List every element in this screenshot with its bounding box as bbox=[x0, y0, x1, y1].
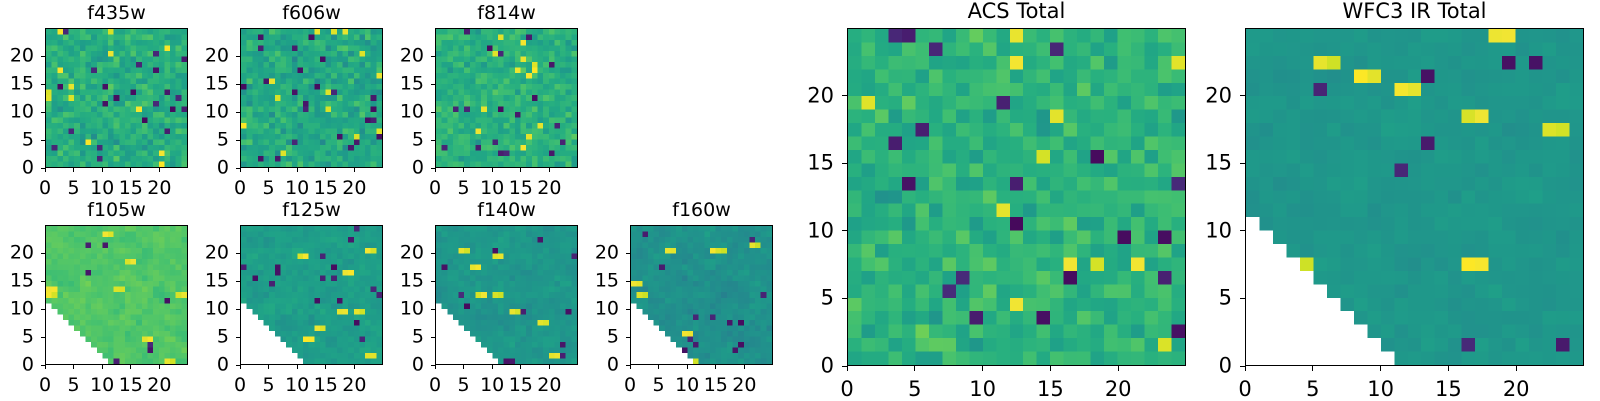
xtick-f606w-20 bbox=[354, 168, 355, 172]
xtick-label-f140w-20: 20 bbox=[537, 376, 561, 395]
xtick-label-f814w-5: 5 bbox=[458, 179, 470, 198]
xtick-f160w-20 bbox=[744, 365, 745, 369]
ytick-f125w-10 bbox=[236, 309, 240, 310]
ytick-f606w-0 bbox=[236, 168, 240, 169]
ytick-label-f105w-15: 15 bbox=[10, 272, 34, 291]
ytick-label-f125w-5: 5 bbox=[217, 328, 229, 347]
ytick-label-acs-total-15: 15 bbox=[807, 153, 834, 174]
xtick-f140w-20 bbox=[549, 365, 550, 369]
xtick-f105w-5 bbox=[73, 365, 74, 369]
ytick-label-f435w-20: 20 bbox=[10, 47, 34, 66]
ytick-label-f606w-15: 15 bbox=[205, 75, 229, 94]
ytick-f606w-10 bbox=[236, 112, 240, 113]
panel-title-wfc3-ir-total: WFC3 IR Total bbox=[1245, 1, 1584, 22]
xtick-f125w-5 bbox=[268, 365, 269, 369]
ytick-label-wfc3-ir-total-5: 5 bbox=[1219, 288, 1232, 309]
ytick-f140w-20 bbox=[431, 253, 435, 254]
heatmap-f140w bbox=[435, 225, 578, 365]
ytick-f435w-5 bbox=[41, 140, 45, 141]
ytick-f160w-15 bbox=[626, 281, 630, 282]
ytick-wfc3-ir-total-10 bbox=[1240, 230, 1245, 231]
ytick-label-wfc3-ir-total-15: 15 bbox=[1205, 153, 1232, 174]
heatmap-wfc3-ir-total bbox=[1245, 28, 1584, 366]
ytick-f814w-10 bbox=[431, 112, 435, 113]
panel-f140w: f140w0510152005101520 bbox=[435, 225, 578, 365]
xtick-label-f435w-20: 20 bbox=[147, 179, 171, 198]
heatmap-f105w bbox=[45, 225, 188, 365]
ytick-label-f125w-20: 20 bbox=[205, 244, 229, 263]
xtick-label-f814w-10: 10 bbox=[480, 179, 504, 198]
xtick-f606w-15 bbox=[325, 168, 326, 172]
figure-canvas: f435w0510152005101520f606w05101520051015… bbox=[0, 0, 1600, 400]
ytick-label-f125w-0: 0 bbox=[217, 356, 229, 375]
xtick-label-f606w-15: 15 bbox=[314, 179, 338, 198]
ytick-label-f160w-15: 15 bbox=[595, 272, 619, 291]
panel-title-f606w: f606w bbox=[240, 4, 383, 23]
ytick-label-wfc3-ir-total-10: 10 bbox=[1205, 220, 1232, 241]
ytick-label-f606w-20: 20 bbox=[205, 47, 229, 66]
heatmap-canvas-wfc3-ir-total bbox=[1246, 29, 1583, 365]
ytick-f160w-5 bbox=[626, 337, 630, 338]
ytick-label-f435w-10: 10 bbox=[10, 103, 34, 122]
xtick-label-f435w-0: 0 bbox=[39, 179, 51, 198]
ytick-label-f160w-20: 20 bbox=[595, 244, 619, 263]
xtick-f140w-5 bbox=[463, 365, 464, 369]
heatmap-canvas-f125w bbox=[241, 226, 382, 364]
ytick-label-acs-total-20: 20 bbox=[807, 85, 834, 106]
xtick-wfc3-ir-total-0 bbox=[1245, 366, 1246, 371]
panel-title-f814w: f814w bbox=[435, 4, 578, 23]
xtick-label-f435w-15: 15 bbox=[119, 179, 143, 198]
xtick-label-f435w-10: 10 bbox=[90, 179, 114, 198]
panel-f435w: f435w0510152005101520 bbox=[45, 28, 188, 168]
ytick-f125w-15 bbox=[236, 281, 240, 282]
ytick-label-f160w-0: 0 bbox=[607, 356, 619, 375]
xtick-f814w-10 bbox=[492, 168, 493, 172]
xtick-label-f125w-0: 0 bbox=[234, 376, 246, 395]
ytick-f606w-15 bbox=[236, 84, 240, 85]
ytick-label-f125w-15: 15 bbox=[205, 272, 229, 291]
ytick-f606w-20 bbox=[236, 56, 240, 57]
panel-f606w: f606w0510152005101520 bbox=[240, 28, 383, 168]
xtick-label-f105w-0: 0 bbox=[39, 376, 51, 395]
panel-f105w: f105w0510152005101520 bbox=[45, 225, 188, 365]
ytick-label-f105w-0: 0 bbox=[22, 356, 34, 375]
xtick-label-f105w-10: 10 bbox=[90, 376, 114, 395]
xtick-f435w-15 bbox=[130, 168, 131, 172]
ytick-f814w-15 bbox=[431, 84, 435, 85]
ytick-label-f435w-5: 5 bbox=[22, 131, 34, 150]
ytick-f160w-20 bbox=[626, 253, 630, 254]
ytick-label-f435w-15: 15 bbox=[10, 75, 34, 94]
xtick-label-wfc3-ir-total-5: 5 bbox=[1306, 379, 1319, 400]
xtick-wfc3-ir-total-5 bbox=[1312, 366, 1313, 371]
heatmap-f125w bbox=[240, 225, 383, 365]
xtick-label-acs-total-20: 20 bbox=[1105, 379, 1132, 400]
panel-title-f140w: f140w bbox=[435, 201, 578, 220]
ytick-label-f105w-20: 20 bbox=[10, 244, 34, 263]
ytick-label-f105w-5: 5 bbox=[22, 328, 34, 347]
xtick-f435w-20 bbox=[159, 168, 160, 172]
xtick-label-f435w-5: 5 bbox=[68, 179, 80, 198]
ytick-label-f105w-10: 10 bbox=[10, 300, 34, 319]
ytick-label-f606w-0: 0 bbox=[217, 159, 229, 178]
ytick-f140w-5 bbox=[431, 337, 435, 338]
xtick-f814w-5 bbox=[463, 168, 464, 172]
ytick-acs-total-15 bbox=[842, 163, 847, 164]
xtick-label-f606w-0: 0 bbox=[234, 179, 246, 198]
ytick-wfc3-ir-total-20 bbox=[1240, 95, 1245, 96]
ytick-acs-total-0 bbox=[842, 366, 847, 367]
xtick-acs-total-10 bbox=[982, 366, 983, 371]
xtick-label-f105w-15: 15 bbox=[119, 376, 143, 395]
xtick-label-f125w-10: 10 bbox=[285, 376, 309, 395]
xtick-f435w-10 bbox=[102, 168, 103, 172]
xtick-f606w-10 bbox=[297, 168, 298, 172]
panel-f814w: f814w0510152005101520 bbox=[435, 28, 578, 168]
xtick-label-f160w-5: 5 bbox=[653, 376, 665, 395]
panel-acs-total: ACS Total0510152005101520 bbox=[847, 28, 1186, 366]
xtick-label-f125w-5: 5 bbox=[263, 376, 275, 395]
ytick-wfc3-ir-total-0 bbox=[1240, 366, 1245, 367]
ytick-label-f160w-10: 10 bbox=[595, 300, 619, 319]
panel-title-acs-total: ACS Total bbox=[847, 1, 1186, 22]
ytick-label-f606w-10: 10 bbox=[205, 103, 229, 122]
xtick-label-f125w-15: 15 bbox=[314, 376, 338, 395]
ytick-f814w-0 bbox=[431, 168, 435, 169]
xtick-label-f140w-5: 5 bbox=[458, 376, 470, 395]
panel-wfc3-ir-total: WFC3 IR Total0510152005101520 bbox=[1245, 28, 1584, 366]
ytick-label-f140w-5: 5 bbox=[412, 328, 424, 347]
xtick-label-f105w-20: 20 bbox=[147, 376, 171, 395]
ytick-f125w-20 bbox=[236, 253, 240, 254]
heatmap-canvas-f160w bbox=[631, 226, 772, 364]
ytick-label-acs-total-0: 0 bbox=[821, 356, 834, 377]
xtick-f125w-10 bbox=[297, 365, 298, 369]
xtick-f814w-20 bbox=[549, 168, 550, 172]
ytick-f160w-0 bbox=[626, 365, 630, 366]
ytick-label-f814w-20: 20 bbox=[400, 47, 424, 66]
xtick-acs-total-15 bbox=[1050, 366, 1051, 371]
ytick-label-f140w-10: 10 bbox=[400, 300, 424, 319]
xtick-f160w-5 bbox=[658, 365, 659, 369]
ytick-wfc3-ir-total-15 bbox=[1240, 163, 1245, 164]
ytick-f105w-20 bbox=[41, 253, 45, 254]
xtick-label-acs-total-5: 5 bbox=[908, 379, 921, 400]
ytick-label-f814w-5: 5 bbox=[412, 131, 424, 150]
xtick-acs-total-0 bbox=[847, 366, 848, 371]
ytick-acs-total-5 bbox=[842, 298, 847, 299]
heatmap-canvas-acs-total bbox=[848, 29, 1185, 365]
panel-title-f125w: f125w bbox=[240, 201, 383, 220]
xtick-label-wfc3-ir-total-15: 15 bbox=[1435, 379, 1462, 400]
xtick-f140w-15 bbox=[520, 365, 521, 369]
panel-title-f160w: f160w bbox=[630, 201, 773, 220]
ytick-label-wfc3-ir-total-0: 0 bbox=[1219, 356, 1232, 377]
ytick-label-f140w-0: 0 bbox=[412, 356, 424, 375]
panel-title-f105w: f105w bbox=[45, 201, 188, 220]
xtick-label-f140w-15: 15 bbox=[509, 376, 533, 395]
ytick-label-f814w-0: 0 bbox=[412, 159, 424, 178]
ytick-label-f606w-5: 5 bbox=[217, 131, 229, 150]
ytick-f606w-5 bbox=[236, 140, 240, 141]
xtick-f814w-15 bbox=[520, 168, 521, 172]
xtick-label-f606w-20: 20 bbox=[342, 179, 366, 198]
xtick-label-acs-total-10: 10 bbox=[969, 379, 996, 400]
xtick-wfc3-ir-total-15 bbox=[1448, 366, 1449, 371]
ytick-label-f160w-5: 5 bbox=[607, 328, 619, 347]
xtick-label-f140w-0: 0 bbox=[429, 376, 441, 395]
xtick-f125w-20 bbox=[354, 365, 355, 369]
ytick-f160w-10 bbox=[626, 309, 630, 310]
xtick-label-f814w-0: 0 bbox=[429, 179, 441, 198]
ytick-wfc3-ir-total-5 bbox=[1240, 298, 1245, 299]
ytick-label-acs-total-5: 5 bbox=[821, 288, 834, 309]
heatmap-f435w bbox=[45, 28, 188, 168]
heatmap-canvas-f606w bbox=[241, 29, 382, 167]
xtick-label-wfc3-ir-total-10: 10 bbox=[1367, 379, 1394, 400]
heatmap-canvas-f814w bbox=[436, 29, 577, 167]
xtick-f160w-15 bbox=[715, 365, 716, 369]
xtick-label-f606w-10: 10 bbox=[285, 179, 309, 198]
ytick-acs-total-10 bbox=[842, 230, 847, 231]
xtick-label-f814w-20: 20 bbox=[537, 179, 561, 198]
ytick-label-f125w-10: 10 bbox=[205, 300, 229, 319]
xtick-wfc3-ir-total-20 bbox=[1516, 366, 1517, 371]
xtick-f160w-10 bbox=[687, 365, 688, 369]
ytick-f140w-10 bbox=[431, 309, 435, 310]
heatmap-f814w bbox=[435, 28, 578, 168]
ytick-label-f435w-0: 0 bbox=[22, 159, 34, 178]
xtick-label-f140w-10: 10 bbox=[480, 376, 504, 395]
ytick-f435w-20 bbox=[41, 56, 45, 57]
xtick-label-f125w-20: 20 bbox=[342, 376, 366, 395]
xtick-label-wfc3-ir-total-20: 20 bbox=[1503, 379, 1530, 400]
xtick-f125w-15 bbox=[325, 365, 326, 369]
ytick-f435w-0 bbox=[41, 168, 45, 169]
ytick-f105w-5 bbox=[41, 337, 45, 338]
ytick-label-f140w-15: 15 bbox=[400, 272, 424, 291]
ytick-label-f140w-20: 20 bbox=[400, 244, 424, 263]
ytick-acs-total-20 bbox=[842, 95, 847, 96]
xtick-label-acs-total-15: 15 bbox=[1037, 379, 1064, 400]
heatmap-canvas-f140w bbox=[436, 226, 577, 364]
xtick-label-wfc3-ir-total-0: 0 bbox=[1238, 379, 1251, 400]
panel-f125w: f125w0510152005101520 bbox=[240, 225, 383, 365]
ytick-f125w-0 bbox=[236, 365, 240, 366]
xtick-label-f160w-20: 20 bbox=[732, 376, 756, 395]
xtick-f606w-5 bbox=[268, 168, 269, 172]
ytick-f105w-0 bbox=[41, 365, 45, 366]
panel-title-f435w: f435w bbox=[45, 4, 188, 23]
xtick-label-f814w-15: 15 bbox=[509, 179, 533, 198]
panel-f160w: f160w0510152005101520 bbox=[630, 225, 773, 365]
ytick-f435w-15 bbox=[41, 84, 45, 85]
xtick-label-f160w-10: 10 bbox=[675, 376, 699, 395]
ytick-f105w-15 bbox=[41, 281, 45, 282]
xtick-label-f160w-15: 15 bbox=[704, 376, 728, 395]
ytick-f435w-10 bbox=[41, 112, 45, 113]
xtick-acs-total-20 bbox=[1118, 366, 1119, 371]
xtick-f105w-20 bbox=[159, 365, 160, 369]
ytick-f140w-15 bbox=[431, 281, 435, 282]
ytick-f140w-0 bbox=[431, 365, 435, 366]
xtick-label-acs-total-0: 0 bbox=[840, 379, 853, 400]
xtick-acs-total-5 bbox=[914, 366, 915, 371]
ytick-f105w-10 bbox=[41, 309, 45, 310]
heatmap-f606w bbox=[240, 28, 383, 168]
xtick-label-f606w-5: 5 bbox=[263, 179, 275, 198]
xtick-f435w-5 bbox=[73, 168, 74, 172]
xtick-label-f160w-0: 0 bbox=[624, 376, 636, 395]
heatmap-canvas-f105w bbox=[46, 226, 187, 364]
ytick-label-acs-total-10: 10 bbox=[807, 220, 834, 241]
ytick-label-f814w-10: 10 bbox=[400, 103, 424, 122]
xtick-wfc3-ir-total-10 bbox=[1380, 366, 1381, 371]
ytick-label-wfc3-ir-total-20: 20 bbox=[1205, 85, 1232, 106]
heatmap-acs-total bbox=[847, 28, 1186, 366]
ytick-f814w-20 bbox=[431, 56, 435, 57]
xtick-f140w-10 bbox=[492, 365, 493, 369]
ytick-label-f814w-15: 15 bbox=[400, 75, 424, 94]
xtick-f105w-15 bbox=[130, 365, 131, 369]
xtick-label-f105w-5: 5 bbox=[68, 376, 80, 395]
ytick-f125w-5 bbox=[236, 337, 240, 338]
heatmap-canvas-f435w bbox=[46, 29, 187, 167]
xtick-f105w-10 bbox=[102, 365, 103, 369]
heatmap-f160w bbox=[630, 225, 773, 365]
ytick-f814w-5 bbox=[431, 140, 435, 141]
